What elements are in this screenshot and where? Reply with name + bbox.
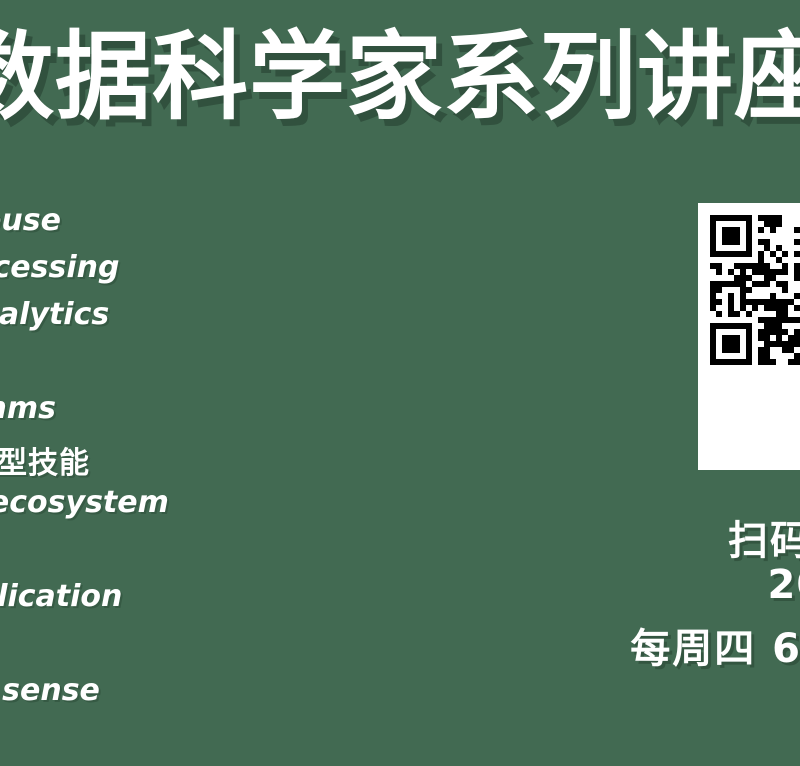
schedule-text: 每周四 6月 (630, 616, 800, 674)
poster-title-band: 数据科学家系列讲座 (0, 0, 800, 150)
agenda-item-5: gorithms (0, 391, 56, 426)
agenda-item-9: y application (0, 579, 122, 614)
poster-canvas: 数据科学家系列讲座 esarehouseProcessingnd analyti… (0, 0, 800, 766)
qr-code-modules (710, 215, 800, 458)
agenda-list: esarehouseProcessingnd analyticsgorithms… (0, 150, 470, 766)
agenda-item-3: Processing (0, 250, 119, 285)
qr-code[interactable] (698, 203, 800, 470)
agenda-item-4: nd analytics (0, 297, 109, 332)
scan-prompt-text: 扫码免 (728, 508, 800, 566)
agenda-item-11: iness sense (0, 673, 100, 708)
schedule-info: 扫码免 202 每周四 6月 (430, 500, 800, 700)
agenda-item-7: ning ecosystem (0, 485, 169, 520)
agenda-item-6: 语言模型技能 (0, 438, 90, 482)
page-title: 数据科学家系列讲座 (0, 22, 800, 132)
year-text: 202 (768, 562, 800, 608)
agenda-item-2: arehouse (0, 203, 61, 238)
